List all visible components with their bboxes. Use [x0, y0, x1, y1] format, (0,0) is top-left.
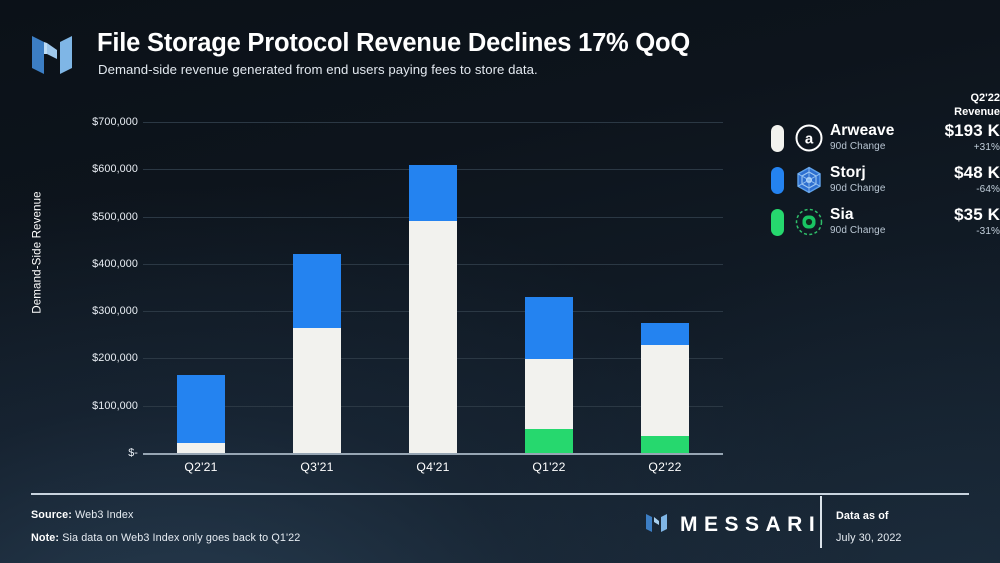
header: File Storage Protocol Revenue Declines 1…: [0, 0, 1000, 96]
x-axis-tick-label: Q4'21: [378, 460, 488, 474]
data-as-of-date: July 30, 2022: [836, 532, 902, 544]
y-axis-tick-label: $100,000: [60, 400, 138, 412]
legend-color-swatch: [771, 209, 784, 236]
legend-row[interactable]: aArweave90d Change$193 K+31%: [762, 120, 1000, 160]
source-value: Web3 Index: [75, 509, 133, 521]
legend-color-swatch: [771, 125, 784, 152]
x-axis-tick-label: Q1'22: [494, 460, 604, 474]
bar-segment-arweave[interactable]: [525, 359, 573, 429]
legend: Q2'22 Revenue aArweave90d Change$193 K+3…: [762, 92, 1000, 247]
chart-plot-area: Demand-Side Revenue $-$100,000$200,000$3…: [0, 96, 760, 486]
y-axis-tick-label: $200,000: [60, 352, 138, 364]
legend-revenue-value: $35 K: [880, 205, 1000, 225]
arweave-coin-icon: a: [794, 123, 824, 153]
y-axis-tick-label: $700,000: [60, 116, 138, 128]
legend-change-label: 90d Change: [830, 225, 886, 236]
bar-segment-sia[interactable]: [525, 429, 573, 453]
legend-color-swatch: [771, 167, 784, 194]
bar-segment-storj[interactable]: [641, 323, 689, 346]
note-line: Note: Sia data on Web3 Index only goes b…: [31, 532, 300, 544]
page-subtitle: Demand-side revenue generated from end u…: [98, 62, 538, 77]
messari-m-logo-icon: [31, 33, 79, 77]
y-axis-tick-label: $300,000: [60, 305, 138, 317]
bar-segment-sia[interactable]: [641, 436, 689, 453]
legend-revenue-value: $193 K: [880, 121, 1000, 141]
messari-m-logo-icon: [645, 512, 671, 539]
y-axis-label: Demand-Side Revenue: [31, 183, 44, 323]
bar-segment-storj[interactable]: [177, 375, 225, 443]
bar-series-group: [143, 96, 723, 486]
bar-segment-arweave[interactable]: [293, 328, 341, 453]
legend-row[interactable]: Sia90d Change$35 K-31%: [762, 204, 1000, 244]
source-line: Source: Web3 Index: [31, 509, 133, 521]
page-title: File Storage Protocol Revenue Declines 1…: [97, 29, 690, 58]
x-axis-tick-label: Q2'21: [146, 460, 256, 474]
source-label: Source:: [31, 509, 72, 521]
legend-change-label: 90d Change: [830, 183, 886, 194]
legend-change-label: 90d Change: [830, 141, 886, 152]
bar-segment-arweave[interactable]: [641, 345, 689, 436]
legend-change-value: +31%: [880, 142, 1000, 153]
footer-vertical-divider: [820, 496, 822, 548]
bar-segment-storj[interactable]: [525, 297, 573, 359]
y-axis-tick-label: $-: [60, 447, 138, 459]
y-axis-ticks: $-$100,000$200,000$300,000$400,000$500,0…: [60, 96, 138, 486]
bar-segment-arweave[interactable]: [177, 443, 225, 453]
bar-segment-storj[interactable]: [409, 165, 457, 222]
sia-coin-icon: [794, 207, 824, 237]
legend-header-line1: Q2'22: [880, 92, 1000, 106]
x-axis-tick-label: Q3'21: [262, 460, 372, 474]
chart-page: File Storage Protocol Revenue Declines 1…: [0, 0, 1000, 563]
legend-asset-name: Sia: [830, 206, 854, 224]
note-value: Sia data on Web3 Index only goes back to…: [62, 532, 300, 544]
messari-brand: MESSARI: [645, 512, 821, 538]
legend-change-value: -31%: [880, 226, 1000, 237]
y-axis-tick-label: $600,000: [60, 163, 138, 175]
legend-row[interactable]: Storj90d Change$48 K-64%: [762, 162, 1000, 202]
footer-divider: [31, 493, 969, 495]
bar-segment-arweave[interactable]: [409, 221, 457, 453]
legend-header-line2: Revenue: [880, 106, 1000, 120]
y-axis-tick-label: $500,000: [60, 211, 138, 223]
legend-asset-name: Storj: [830, 164, 866, 182]
x-axis-tick-label: Q2'22: [610, 460, 720, 474]
legend-revenue-value: $48 K: [880, 163, 1000, 183]
messari-wordmark: MESSARI: [680, 513, 821, 537]
svg-text:a: a: [805, 131, 814, 148]
y-axis-tick-label: $400,000: [60, 258, 138, 270]
bar-segment-storj[interactable]: [293, 254, 341, 327]
data-as-of-label: Data as of: [836, 510, 889, 522]
note-label: Note:: [31, 532, 59, 544]
legend-change-value: -64%: [880, 184, 1000, 195]
storj-coin-icon: [794, 165, 824, 195]
legend-column-header: Q2'22 Revenue: [880, 92, 1000, 119]
